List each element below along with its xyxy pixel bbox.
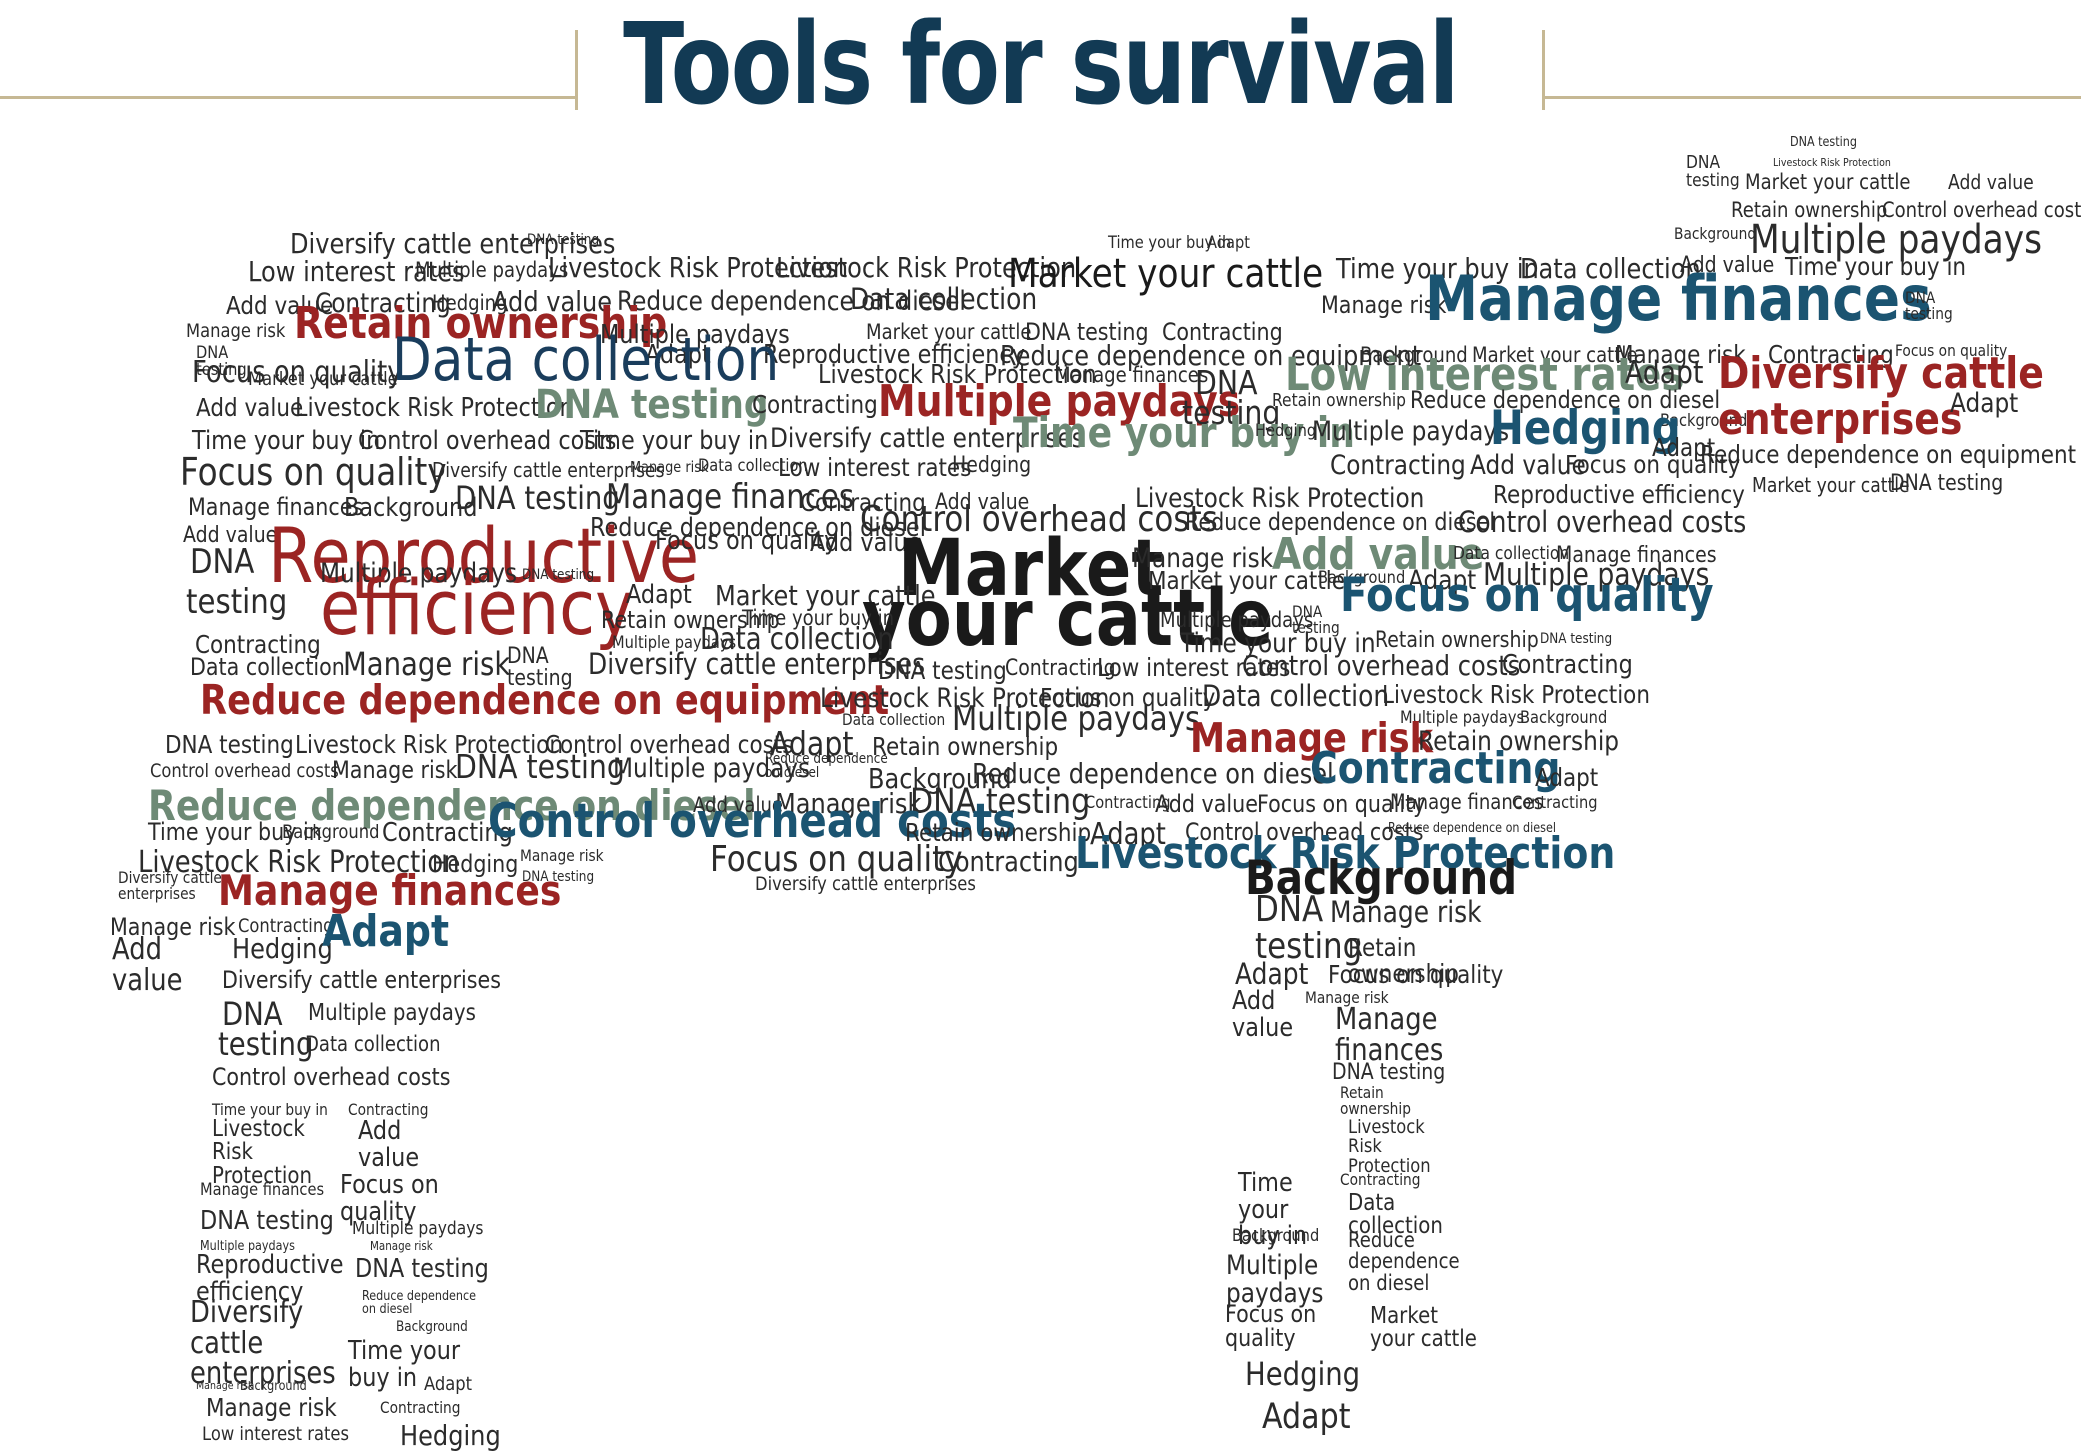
- cloud-word: Diversify cattle enterprises: [588, 650, 925, 679]
- cloud-word: Diversify cattle enterprises: [190, 1298, 336, 1390]
- cloud-word: Multiple paydays: [1226, 1252, 1324, 1307]
- cloud-word: Contracting: [1310, 747, 1561, 791]
- cloud-word: Focus on quality: [1565, 452, 1740, 477]
- cloud-word: Control overhead costs: [150, 762, 339, 781]
- cloud-word: DNA testing: [355, 1256, 489, 1282]
- cloud-word: Contracting: [1340, 1172, 1420, 1188]
- cloud-word: Livestock Risk Protection: [1348, 1118, 1431, 1176]
- cloud-word: Multiple paydays: [308, 1002, 476, 1025]
- cloud-word: Reduce dependence on equipment: [200, 680, 889, 721]
- cloud-word: DNA testing: [1890, 473, 2003, 495]
- cloud-word: Hedging: [952, 455, 1031, 477]
- cloud-word: Market your cattle: [1370, 1305, 1477, 1352]
- cloud-word: Background: [282, 823, 379, 842]
- cloud-word: Retain ownership: [872, 734, 1058, 759]
- cloud-word: Background: [240, 1380, 307, 1393]
- slide-header: Tools for survival: [0, 0, 2081, 130]
- cloud-word: Control overhead costs: [1242, 652, 1520, 680]
- cloud-word: Manage risk: [520, 848, 604, 864]
- cloud-word: Manage risk: [206, 1395, 337, 1420]
- cloud-word: Manage finances: [200, 1182, 324, 1199]
- cloud-word: Livestock Risk Protection: [1773, 157, 1891, 168]
- cloud-word: Adapt: [322, 910, 449, 954]
- cloud-word: DNA testing: [455, 482, 620, 514]
- page-title: Tools for survival: [208, 6, 1873, 124]
- cloud-word: Diversify cattle enterprises: [118, 870, 222, 903]
- cloud-word: Reduce dependence on diesel: [1348, 1230, 1460, 1294]
- cloud-word: Adapt: [1207, 235, 1250, 252]
- cloud-word: Contracting: [752, 392, 878, 417]
- cloud-word: Contracting: [1330, 452, 1466, 479]
- cloud-word: Adapt: [626, 582, 692, 608]
- cloud-word: Control overhead costs: [1458, 508, 1746, 537]
- cloud-word: DNA testing: [1540, 632, 1612, 646]
- cloud-word: Livestock Risk Protection: [295, 395, 574, 421]
- cloud-word: Adapt: [1235, 960, 1308, 989]
- cloud-word: Time your buy in: [580, 428, 768, 454]
- cloud-word: DNA testing: [878, 658, 1007, 683]
- cloud-word: Contracting: [1512, 795, 1598, 812]
- cloud-word: Reduce dependence on equipment: [1700, 442, 2076, 467]
- cloud-word: Market your cattle: [1745, 172, 1910, 193]
- cloud-word: DNA testing: [522, 870, 594, 884]
- cloud-word: Contracting: [380, 1400, 460, 1416]
- cloud-word: Add value: [1155, 792, 1258, 816]
- cloud-word: efficiency: [320, 570, 634, 646]
- cloud-word: Livestock Risk Protection: [212, 1118, 312, 1188]
- cloud-word: Multiple paydays: [415, 260, 568, 281]
- cloud-word: Hedging: [400, 1422, 501, 1450]
- cloud-word: Focus on quality: [192, 358, 402, 388]
- cloud-word: DNA testing: [165, 732, 294, 757]
- cloud-word: Data collection: [1202, 682, 1389, 711]
- cloud-word: Reduce dependence on diesel: [362, 1290, 476, 1317]
- cloud-word: Manage risk: [332, 758, 457, 782]
- cloud-word: Adapt: [424, 1375, 472, 1394]
- cloud-word: Adapt: [1950, 390, 2018, 417]
- word-cloud: DNA testingLivestock Risk ProtectionDNA …: [0, 130, 2081, 1362]
- cloud-word: Manage risk: [186, 322, 285, 341]
- cloud-word: Livestock Risk Protection: [1382, 682, 1650, 707]
- cloud-word: Manage finances: [1335, 1005, 1443, 1066]
- cloud-word: Contracting: [1502, 652, 1633, 678]
- cloud-word: Diversify cattle enterprises: [755, 875, 976, 894]
- cloud-word: Manage risk: [630, 460, 708, 475]
- cloud-word: Focus on quality: [1225, 1302, 1316, 1351]
- cloud-word: Adapt: [1262, 1400, 1351, 1435]
- cloud-word: Reproductive efficiency: [1493, 482, 1745, 507]
- cloud-word: Manage risk: [370, 1240, 433, 1252]
- cloud-word: Background: [1674, 226, 1756, 242]
- cloud-word: Hedging: [1255, 423, 1316, 440]
- cloud-word: Data collection: [392, 330, 779, 390]
- cloud-word: DNA testing: [1332, 1062, 1445, 1084]
- cloud-word: Manage risk: [1330, 898, 1482, 927]
- cloud-word: Data collection: [305, 1034, 441, 1055]
- cloud-word: Hedging: [232, 935, 333, 963]
- cloud-word: Multiple paydays: [1312, 418, 1509, 445]
- cloud-word: Multiple paydays: [352, 1220, 483, 1238]
- cloud-word: Low interest rates: [202, 1425, 349, 1444]
- cloud-word: DNA testing: [1686, 154, 1740, 191]
- cloud-word: Data collection: [842, 712, 945, 728]
- cloud-word: Data collection: [850, 285, 1037, 314]
- cloud-word: enterprises: [1718, 398, 1962, 442]
- cloud-word: Contracting: [938, 848, 1079, 876]
- cloud-word: Add value: [1948, 172, 2034, 192]
- cloud-word: DNA: [190, 545, 254, 579]
- cloud-word: DNA testing: [535, 385, 769, 425]
- cloud-word: Focus on quality: [1328, 962, 1503, 987]
- cloud-word: Retain ownership: [1340, 1085, 1411, 1118]
- cloud-word: Manage finances: [1425, 268, 1932, 330]
- cloud-word: DNA testing: [1790, 136, 1857, 149]
- cloud-word: Add value: [358, 1118, 419, 1171]
- cloud-word: Hedging: [1245, 1358, 1360, 1390]
- cloud-word: Add value: [112, 935, 182, 996]
- cloud-word: Background: [396, 1320, 468, 1334]
- cloud-word: DNA testing: [200, 1208, 334, 1234]
- cloud-word: Control overhead costs: [212, 1065, 451, 1089]
- cloud-word: Adapt: [1535, 765, 1598, 790]
- cloud-word: Multiple paydays: [952, 702, 1200, 736]
- cloud-word: Background: [1520, 710, 1607, 727]
- cloud-word: Add value: [196, 395, 303, 420]
- cloud-word: DNA testing: [527, 233, 599, 247]
- cloud-word: Market your cattle: [1752, 475, 1910, 495]
- cloud-word: testing: [218, 1028, 313, 1060]
- cloud-word: Focus on quality: [1340, 572, 1714, 619]
- cloud-word: Focus on quality: [180, 453, 447, 491]
- wordcloud-slide: Tools for survival DNA testingLivestock …: [0, 0, 2081, 1362]
- cloud-word: Background: [1232, 1228, 1319, 1245]
- cloud-word: Adapt: [1625, 358, 1703, 389]
- cloud-word: Add value: [1232, 988, 1293, 1041]
- cloud-word: Market your cattle: [1008, 254, 1323, 294]
- cloud-word: DNA testing: [1905, 290, 1953, 323]
- cloud-word: Diversify cattle enterprises: [222, 968, 501, 992]
- cloud-word: DNA testing: [455, 750, 625, 783]
